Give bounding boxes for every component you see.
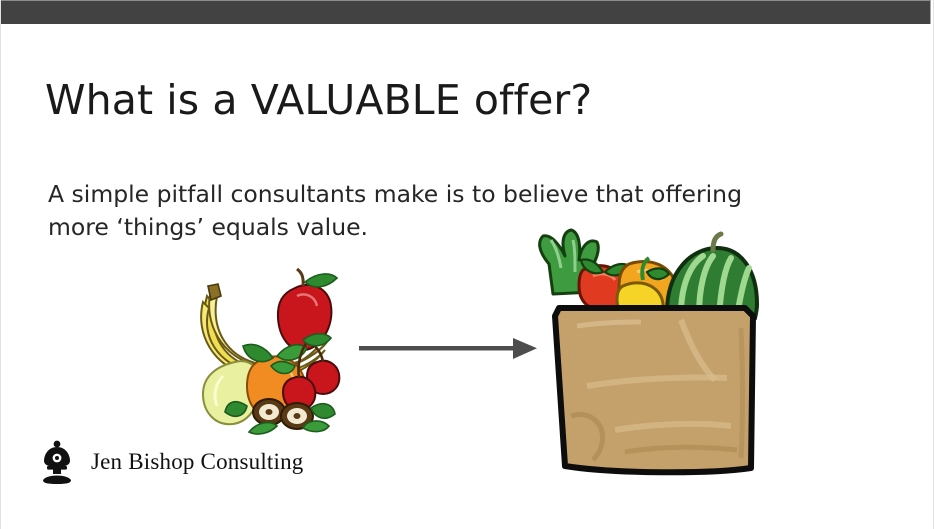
right-arrow-icon (353, 330, 541, 368)
brand-name: Jen Bishop Consulting (91, 449, 304, 475)
footer-branding: Jen Bishop Consulting (37, 438, 304, 486)
page-title: What is a VALUABLE offer? (45, 76, 592, 124)
grocery-bag-image (531, 216, 761, 478)
chess-bishop-icon (37, 438, 77, 486)
presentation-slide: What is a VALUABLE offer? A simple pitfa… (0, 0, 934, 529)
fruit-cluster-image (177, 266, 357, 436)
window-title-bar (1, 0, 931, 24)
